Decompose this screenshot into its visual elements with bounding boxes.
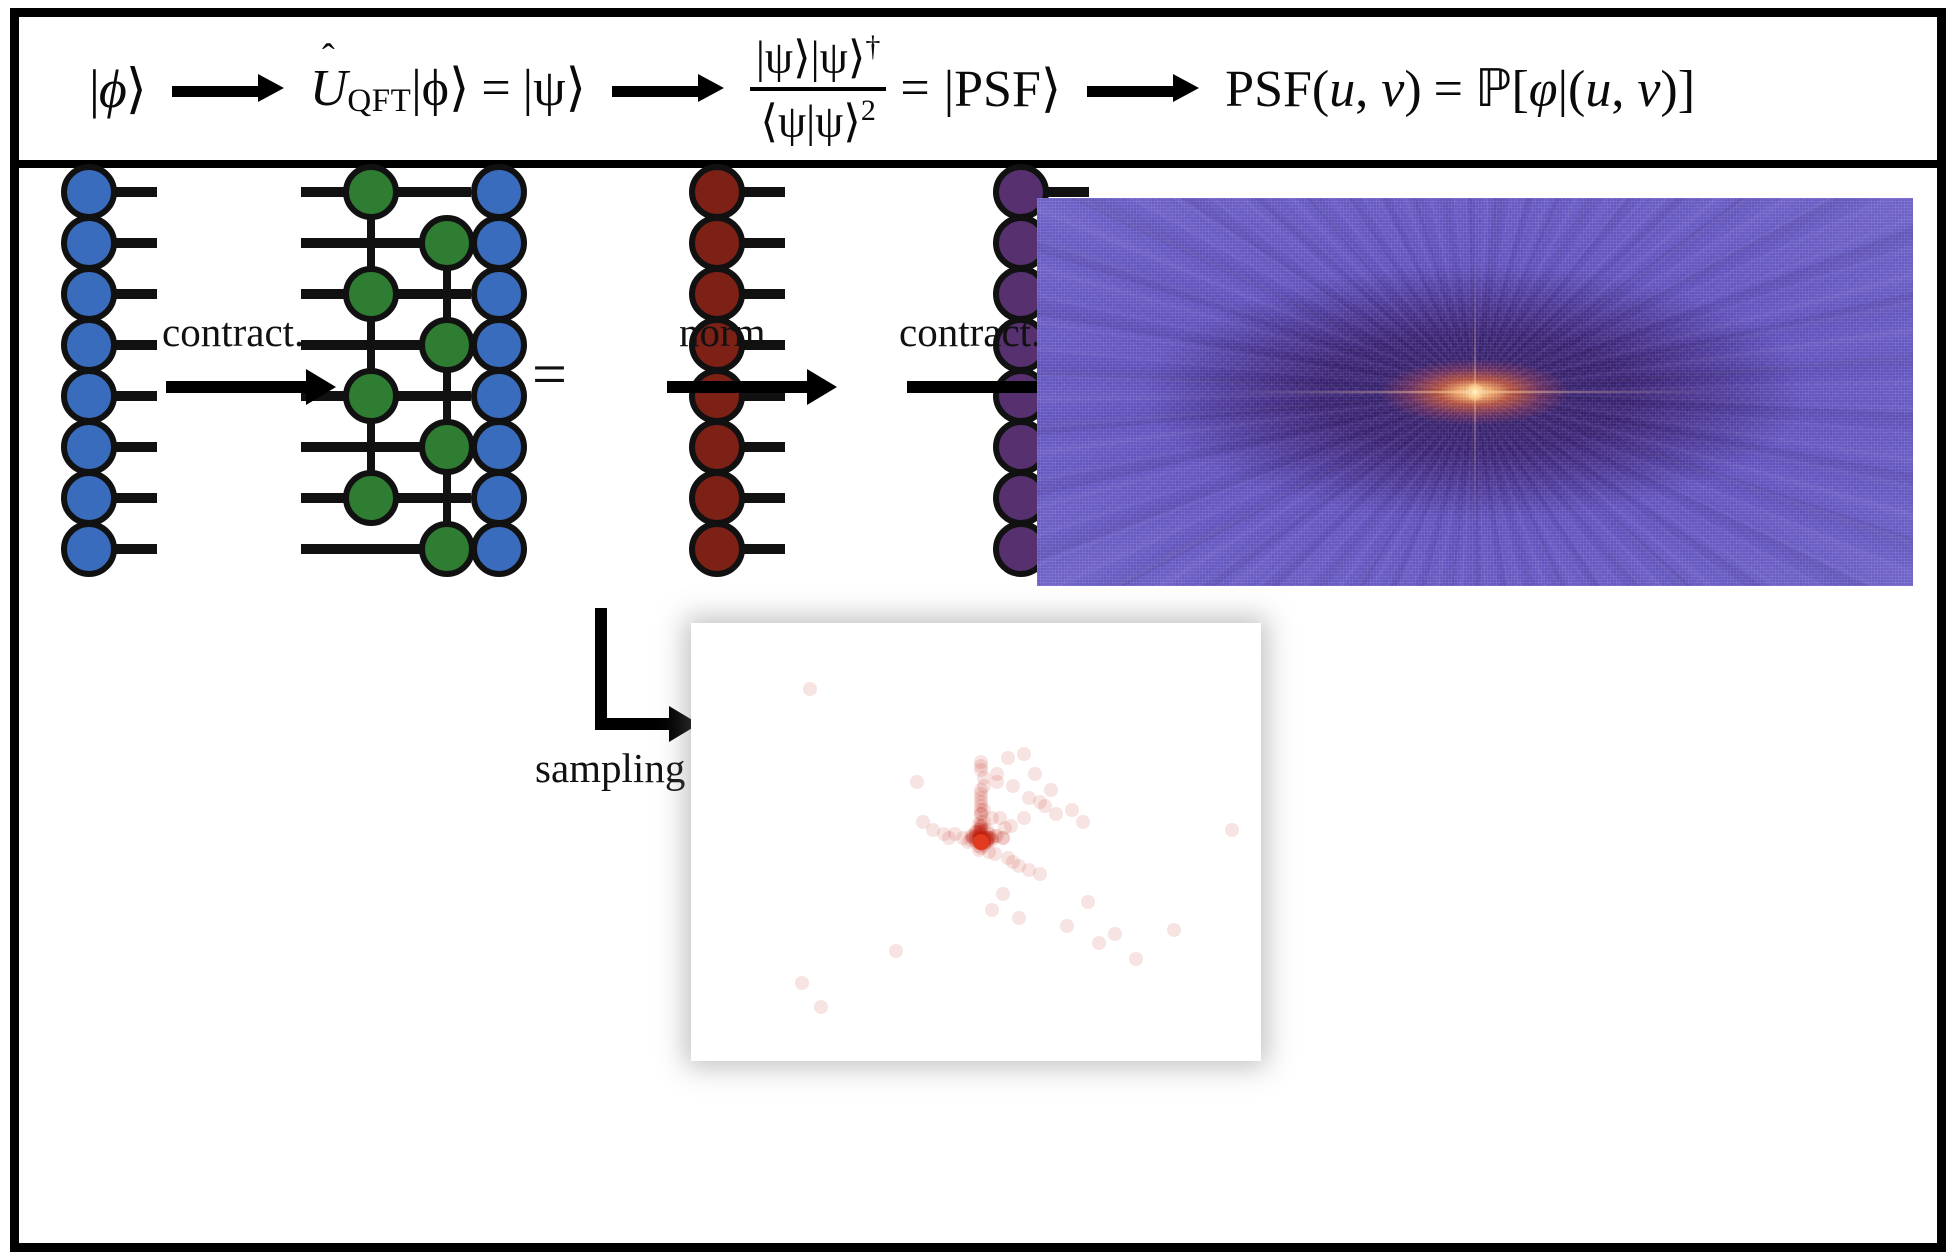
label-norm: norm. (679, 308, 776, 356)
scatter-point (1033, 795, 1047, 809)
figure-root: |ϕ⟩ ˆU QFT|ϕ⟩=|ψ⟩ |ψ⟩|ψ⟩† ⟨ψ|ψ⟩2 = |PSF⟩ (0, 0, 1956, 1260)
qft-gate-node (343, 368, 399, 424)
input-state-mps-node (61, 266, 117, 322)
contracted-state-mps-physical-leg (743, 187, 785, 197)
label-contract-2: contract. (899, 308, 1041, 356)
contracted-state-mps-physical-leg (743, 289, 785, 299)
qft-mps-node (471, 266, 527, 322)
scatter-point (1076, 815, 1090, 829)
input-state-mps-physical-leg (115, 493, 157, 503)
scatter-point (1028, 767, 1042, 781)
scatter-point (916, 815, 930, 829)
qft-gate-node (419, 215, 475, 271)
scatter-point (814, 1000, 828, 1014)
scatter-point (795, 976, 809, 990)
scatter-point (1001, 751, 1015, 765)
qft-mps-node (471, 521, 527, 577)
input-state-mps-physical-leg (115, 340, 157, 350)
contracted-state-mps-physical-leg (743, 544, 785, 554)
contracted-state-mps-node (689, 215, 745, 271)
scatter-point (996, 831, 1010, 845)
input-state-mps-physical-leg (115, 289, 157, 299)
qft-mps-node (471, 164, 527, 220)
u-operator: ˆU (310, 59, 348, 118)
scatter-point (1065, 803, 1079, 817)
arrow-sampling (595, 608, 705, 738)
psf-fraction: |ψ⟩|ψ⟩† ⟨ψ|ψ⟩2 (750, 31, 886, 145)
scatter-point (1129, 952, 1143, 966)
scatter-point (1006, 779, 1020, 793)
qft-gate-node (419, 419, 475, 475)
scatter-point (985, 811, 999, 825)
label-sampling: sampling (535, 744, 685, 792)
scatter-point (1225, 823, 1239, 837)
fraction-numerator: |ψ⟩|ψ⟩† (750, 31, 886, 82)
arrow-contract-1 (166, 378, 336, 396)
input-state-mps-physical-leg (115, 187, 157, 197)
contracted-state-mps-node (689, 368, 745, 424)
qft-gate-node (343, 266, 399, 322)
qft-mps-node (471, 368, 527, 424)
contracted-state-mps-node (689, 521, 745, 577)
scatter-point (985, 903, 999, 917)
scatter-point (910, 775, 924, 789)
scatter-point (1060, 919, 1074, 933)
qft-mps-node (471, 215, 527, 271)
scatter-point (1081, 895, 1095, 909)
contracted-state-mps-physical-leg (743, 238, 785, 248)
qft-mps-node (471, 470, 527, 526)
scatter-point (1108, 927, 1122, 941)
contracted-state-mps-node (689, 419, 745, 475)
contracted-state-mps-physical-leg (743, 493, 785, 503)
input-state-mps-node (61, 470, 117, 526)
contracted-state-mps-physical-leg (743, 442, 785, 452)
input-state-mps-node (61, 317, 117, 373)
input-state-mps-node (61, 164, 117, 220)
formula-input-state: |ϕ⟩ (89, 57, 146, 120)
scatter-point (988, 847, 1002, 861)
sampled-photon-positions (691, 623, 1261, 1061)
right-arrow-icon (1087, 81, 1199, 97)
scatter-point (996, 887, 1010, 901)
input-state-mps-node (61, 215, 117, 271)
scatter-point (1033, 867, 1047, 881)
qft-mps-node (471, 419, 527, 475)
input-state-mps-physical-leg (115, 442, 157, 452)
input-state-mps-node (61, 419, 117, 475)
contracted-state-mps-node (689, 470, 745, 526)
formula-strip: |ϕ⟩ ˆU QFT|ϕ⟩=|ψ⟩ |ψ⟩|ψ⟩† ⟨ψ|ψ⟩2 = |PSF⟩ (19, 17, 1937, 160)
scatter-point (803, 682, 817, 696)
formula-strip-divider (19, 160, 1937, 168)
formula-psf-probability: PSF(u, v)=ℙ[φ|(u, v)] (1225, 59, 1695, 119)
scatter-point (1167, 923, 1181, 937)
qft-gate-node (343, 470, 399, 526)
input-state-mps-physical-leg (115, 391, 157, 401)
scatter-point (1049, 807, 1063, 821)
scatter-point (990, 767, 1004, 781)
input-state-mps-node (61, 521, 117, 577)
formula-psf-definition: |ψ⟩|ψ⟩† ⟨ψ|ψ⟩2 = |PSF⟩ (750, 31, 1061, 145)
scatter-point (974, 755, 988, 769)
scatter-point (1092, 936, 1106, 950)
scatter-point (1017, 747, 1031, 761)
psf-core-glow (1037, 198, 1913, 586)
contracted-state-mps-node (689, 164, 745, 220)
scatter-point (889, 944, 903, 958)
label-contract-1: contract. (162, 308, 304, 356)
psf-intensity-map (1037, 198, 1913, 586)
input-state-mps-physical-leg (115, 544, 157, 554)
diagram-canvas: contract. = norm. contract. (19, 168, 1937, 1244)
right-arrow-icon (172, 81, 284, 97)
input-state-mps-node (61, 368, 117, 424)
normalized-psf-mps-physical-leg (1047, 187, 1089, 197)
scatter-point (1044, 783, 1058, 797)
right-arrow-icon (612, 81, 724, 97)
qft-gate-node (419, 521, 475, 577)
qft-gate-node (343, 164, 399, 220)
arrow-norm (667, 378, 837, 396)
equals-sign: = (532, 340, 567, 411)
scatter-point (1017, 811, 1031, 825)
scatter-point (1012, 911, 1026, 925)
formula-qft-apply: ˆU QFT|ϕ⟩=|ψ⟩ (310, 58, 586, 120)
fraction-denominator: ⟨ψ|ψ⟩2 (754, 95, 881, 146)
qft-gate-node (419, 317, 475, 373)
input-state-mps-physical-leg (115, 238, 157, 248)
fraction-bar (750, 87, 886, 91)
qft-mps-node (471, 317, 527, 373)
